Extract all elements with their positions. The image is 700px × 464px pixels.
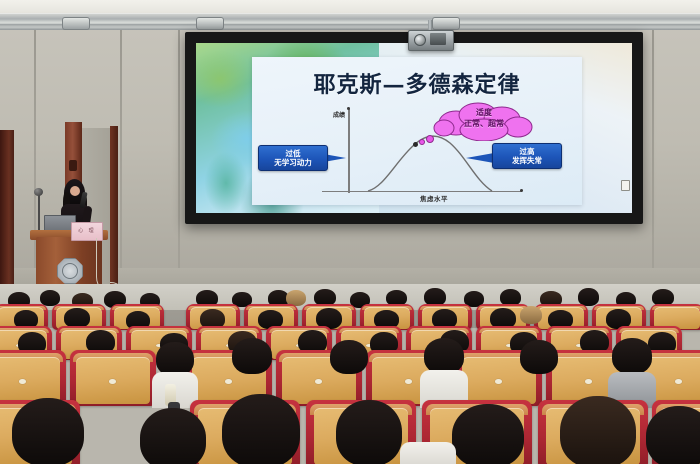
audience-head bbox=[330, 340, 368, 374]
audience-seating bbox=[0, 284, 700, 464]
audience-head bbox=[520, 340, 558, 374]
audience-head bbox=[156, 342, 194, 376]
door-hinge bbox=[69, 160, 77, 171]
cloud-bubble-small bbox=[419, 139, 425, 145]
audience-head-foreground bbox=[560, 396, 636, 464]
slide-content-card: 耶克斯—多德森定律 成绩 焦虑水平 bbox=[252, 57, 582, 205]
projector-cables bbox=[430, 33, 446, 45]
wall-notice-sign bbox=[621, 180, 630, 191]
door-panel-left[interactable] bbox=[0, 130, 9, 295]
cloud-line-2: 正常、超常 bbox=[464, 119, 504, 128]
microphone-icon bbox=[34, 188, 43, 196]
seat bbox=[0, 350, 66, 406]
microphone-stand bbox=[38, 192, 40, 232]
audience-head-foreground bbox=[140, 408, 206, 464]
slide-title: 耶克斯—多德森定律 bbox=[252, 67, 582, 99]
cloud-text: 适度 正常、超常 bbox=[432, 108, 536, 129]
projector-lens-icon bbox=[414, 34, 426, 46]
audience-head bbox=[520, 306, 542, 324]
callout-high-line-2: 发挥失常 bbox=[512, 156, 542, 165]
wall-panel-seam bbox=[652, 30, 654, 295]
podium-sign-text: 心 理 bbox=[72, 227, 102, 234]
seat bbox=[70, 350, 156, 406]
cloud-bubble-large bbox=[426, 135, 434, 143]
audience-head-foreground bbox=[336, 400, 402, 464]
cloud-line-1: 适度 bbox=[476, 108, 492, 117]
speaker-face bbox=[70, 186, 80, 196]
audience-head-foreground bbox=[12, 398, 84, 464]
callout-tail-right bbox=[466, 153, 494, 163]
audience-shoulder bbox=[400, 442, 456, 464]
audience-head bbox=[232, 338, 272, 374]
callout-low-arousal: 过低 无学习动力 bbox=[258, 145, 328, 171]
wall-panel-seam bbox=[178, 30, 180, 295]
rail-clip bbox=[196, 17, 224, 30]
lecture-hall-photo: 耶克斯—多德森定律 成绩 焦虑水平 bbox=[0, 0, 700, 464]
rail-clip bbox=[62, 17, 90, 30]
cloud-bubble-tiny bbox=[413, 142, 418, 147]
callout-high-arousal: 过高 发挥失常 bbox=[492, 143, 562, 169]
callout-high-line-1: 过高 bbox=[520, 147, 535, 156]
audience-head bbox=[424, 338, 464, 374]
thought-cloud: 适度 正常、超常 bbox=[432, 101, 536, 141]
audience-head bbox=[612, 338, 652, 374]
callout-low-line-2: 无学习动力 bbox=[274, 158, 312, 167]
audience-head bbox=[64, 308, 90, 328]
projection-screen-surface: 耶克斯—多德森定律 成绩 焦虑水平 bbox=[196, 43, 632, 213]
audience-head-foreground bbox=[646, 406, 700, 464]
callout-low-line-1: 过低 bbox=[286, 149, 301, 158]
podium-emblem-ring-icon bbox=[62, 263, 78, 279]
audience-head-foreground bbox=[222, 394, 300, 464]
audience-head-foreground bbox=[452, 404, 524, 464]
yerkes-dodson-chart: 成绩 焦虑水平 bbox=[280, 109, 562, 201]
rail-clip bbox=[432, 17, 460, 30]
projection-screen-frame: 耶克斯—多德森定律 成绩 焦虑水平 bbox=[185, 32, 643, 224]
